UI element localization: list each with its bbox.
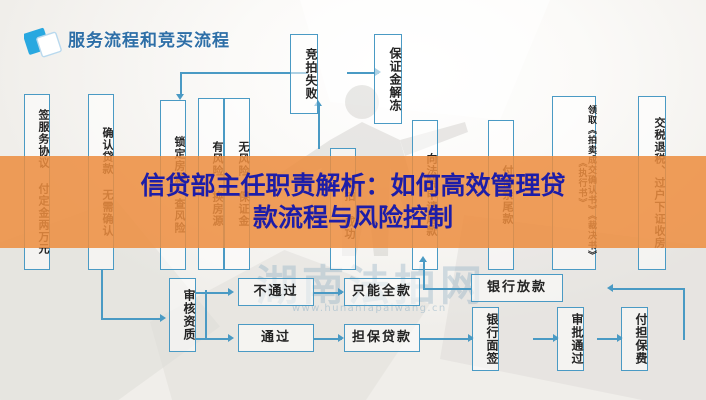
connector bbox=[196, 338, 230, 340]
connector bbox=[196, 292, 230, 294]
connector bbox=[205, 290, 207, 340]
connector bbox=[180, 72, 182, 96]
node-review-qualification[interactable]: 审核资质 bbox=[169, 278, 196, 352]
arrow-up-icon bbox=[419, 256, 427, 262]
node-bank-disbursement[interactable]: 银行放款 bbox=[471, 274, 563, 302]
connector bbox=[423, 288, 471, 290]
node-guaranteed-loan[interactable]: 担保贷款 bbox=[344, 324, 420, 352]
flowchart-screenshot: 服务流程和竞买流程 湖南法拍网 www.hunanfapaiwang.cn 签服… bbox=[0, 0, 706, 400]
connector bbox=[101, 270, 103, 320]
node-auction-failed[interactable]: 竞拍失败 bbox=[290, 34, 318, 114]
node-bank-interview[interactable]: 银行面签 bbox=[472, 307, 499, 371]
node-full-payment-only[interactable]: 只能全款 bbox=[344, 278, 420, 306]
page-title: 服务流程和竞买流程 bbox=[68, 26, 230, 51]
overlay-banner bbox=[0, 156, 706, 248]
arrow-right-icon bbox=[228, 334, 234, 342]
connector bbox=[318, 105, 320, 149]
connector bbox=[683, 288, 685, 340]
node-not-passed[interactable]: 不通过 bbox=[238, 278, 314, 306]
node-passed[interactable]: 通过 bbox=[238, 324, 314, 352]
connector bbox=[423, 262, 425, 289]
arrow-left-icon bbox=[607, 284, 613, 292]
node-pay-guarantee-fee[interactable]: 付担保费 bbox=[621, 307, 648, 371]
arrow-right-icon bbox=[160, 314, 166, 322]
connector bbox=[101, 318, 163, 320]
node-approval-passed[interactable]: 审批通过 bbox=[557, 307, 584, 371]
connector bbox=[613, 288, 684, 290]
connector bbox=[420, 338, 472, 340]
blue-diamond-logo-icon bbox=[24, 22, 64, 62]
node-deposit-unfreeze[interactable]: 保证金解冻 bbox=[374, 34, 402, 124]
arrow-right-icon bbox=[228, 288, 234, 296]
